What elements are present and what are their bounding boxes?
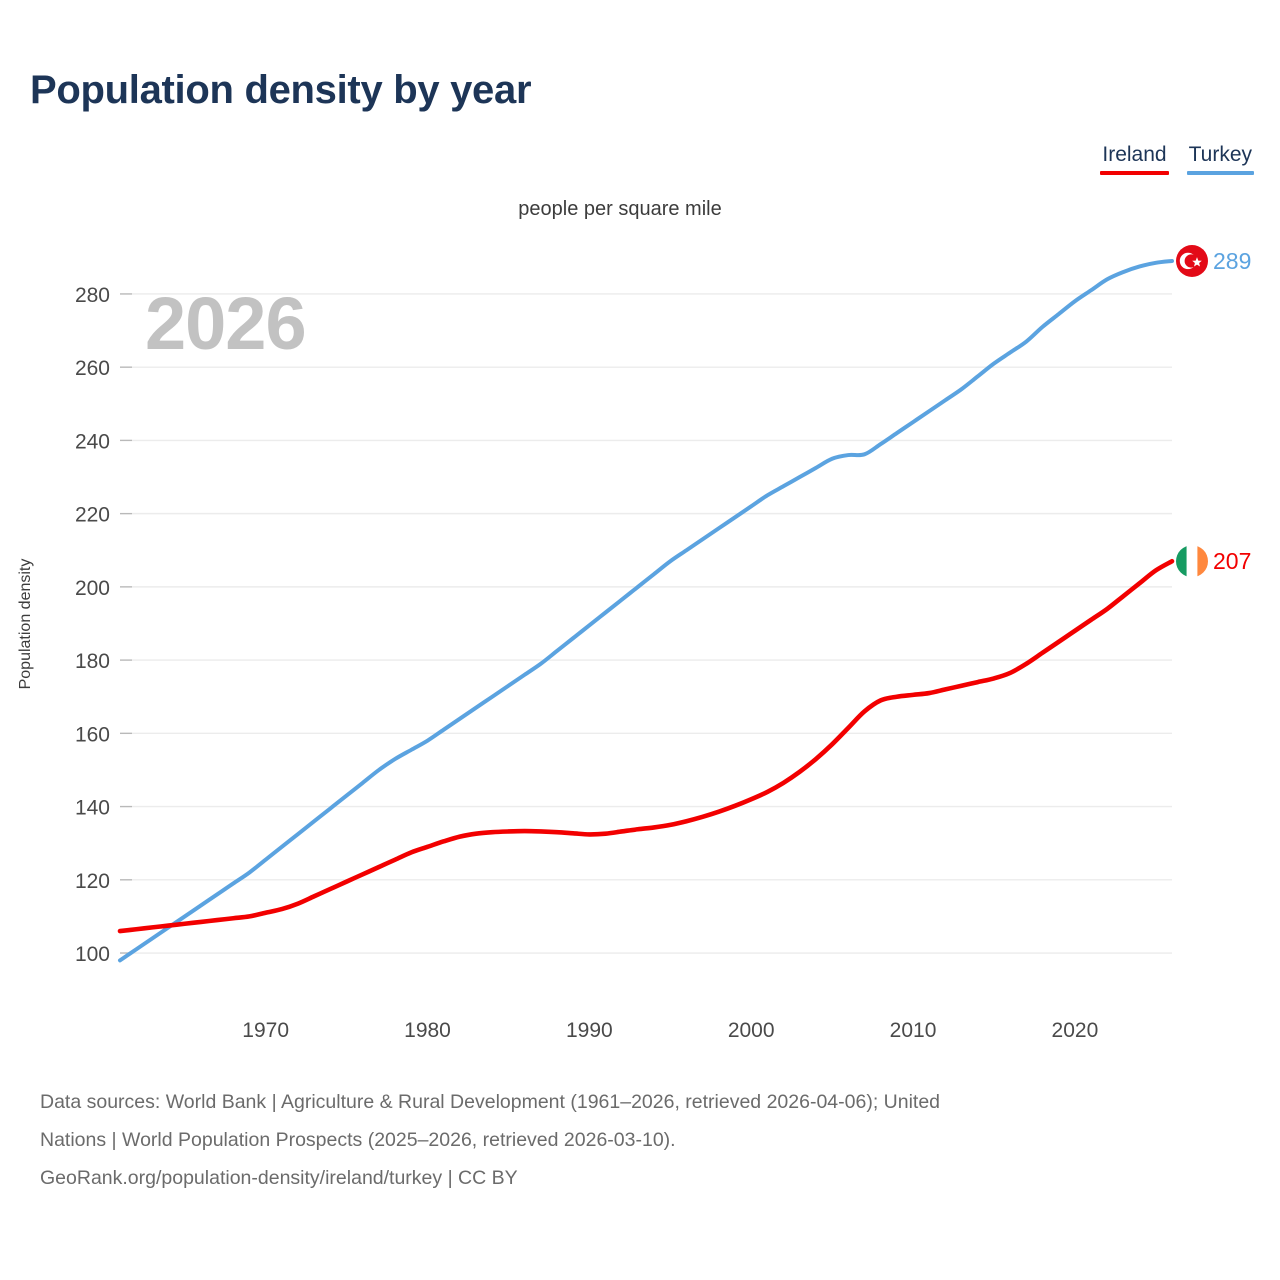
y-tick-label: 220 bbox=[75, 504, 110, 527]
x-tick-label: 1980 bbox=[404, 1019, 451, 1042]
y-tick-label: 140 bbox=[75, 797, 110, 820]
end-value-turkey: 289 bbox=[1213, 248, 1251, 274]
chart-area: 100120140160180200220240260280 197019801… bbox=[0, 0, 1280, 1080]
x-tick-label: 2000 bbox=[728, 1019, 775, 1042]
data-line-ireland bbox=[120, 561, 1172, 931]
end-value-ireland: 207 bbox=[1213, 548, 1251, 574]
x-tick-label: 2020 bbox=[1052, 1019, 1099, 1042]
y-tick-label: 120 bbox=[75, 870, 110, 893]
line-chart-svg[interactable]: 100120140160180200220240260280 197019801… bbox=[0, 0, 1280, 1080]
x-axis-ticks: 197019801990200020102020 bbox=[242, 1019, 1098, 1042]
y-axis-ticks: 100120140160180200220240260280 bbox=[75, 284, 110, 966]
footer-line-1: Data sources: World Bank | Agriculture &… bbox=[40, 1083, 1250, 1121]
y-tick-label: 100 bbox=[75, 943, 110, 966]
x-tick-label: 2010 bbox=[890, 1019, 937, 1042]
footer-line-3: GeoRank.org/population-density/ireland/t… bbox=[40, 1159, 1250, 1197]
y-axis-label: Population density bbox=[17, 544, 35, 704]
footer-sources: Data sources: World Bank | Agriculture &… bbox=[40, 1083, 1250, 1197]
ireland-flag-icon bbox=[1176, 545, 1208, 577]
gridlines-group bbox=[120, 294, 1172, 953]
end-marker-ireland[interactable]: 207 bbox=[1176, 545, 1251, 577]
turkey-flag-icon bbox=[1176, 245, 1208, 277]
y-tick-label: 160 bbox=[75, 723, 110, 746]
y-tick-label: 200 bbox=[75, 577, 110, 600]
footer-line-2: Nations | World Population Prospects (20… bbox=[40, 1121, 1250, 1159]
chart-page: Population density by year Ireland Turke… bbox=[0, 0, 1280, 1280]
x-tick-label: 1990 bbox=[566, 1019, 613, 1042]
x-tick-label: 1970 bbox=[242, 1019, 289, 1042]
y-tick-label: 280 bbox=[75, 284, 110, 307]
y-tick-label: 260 bbox=[75, 357, 110, 380]
end-marker-turkey[interactable]: 289 bbox=[1176, 245, 1251, 277]
y-tick-label: 240 bbox=[75, 430, 110, 453]
y-tick-label: 180 bbox=[75, 650, 110, 673]
year-watermark: 2026 bbox=[145, 281, 306, 366]
